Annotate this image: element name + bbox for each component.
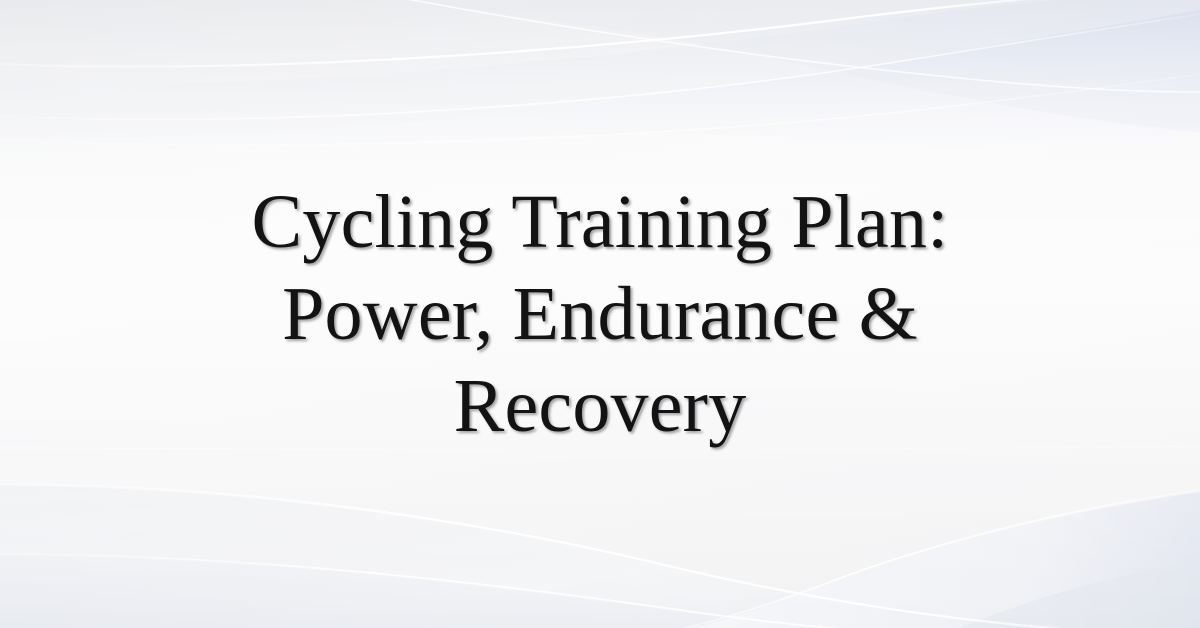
title-slide: Cycling Training Plan: Power, Endurance … (0, 0, 1200, 628)
title-line-2: Power, Endurance & (252, 268, 949, 360)
title-line-3: Recovery (252, 360, 949, 452)
title-block: Cycling Training Plan: Power, Endurance … (0, 0, 1200, 628)
title-line-1: Cycling Training Plan: (252, 176, 949, 268)
page-title: Cycling Training Plan: Power, Endurance … (252, 176, 949, 452)
